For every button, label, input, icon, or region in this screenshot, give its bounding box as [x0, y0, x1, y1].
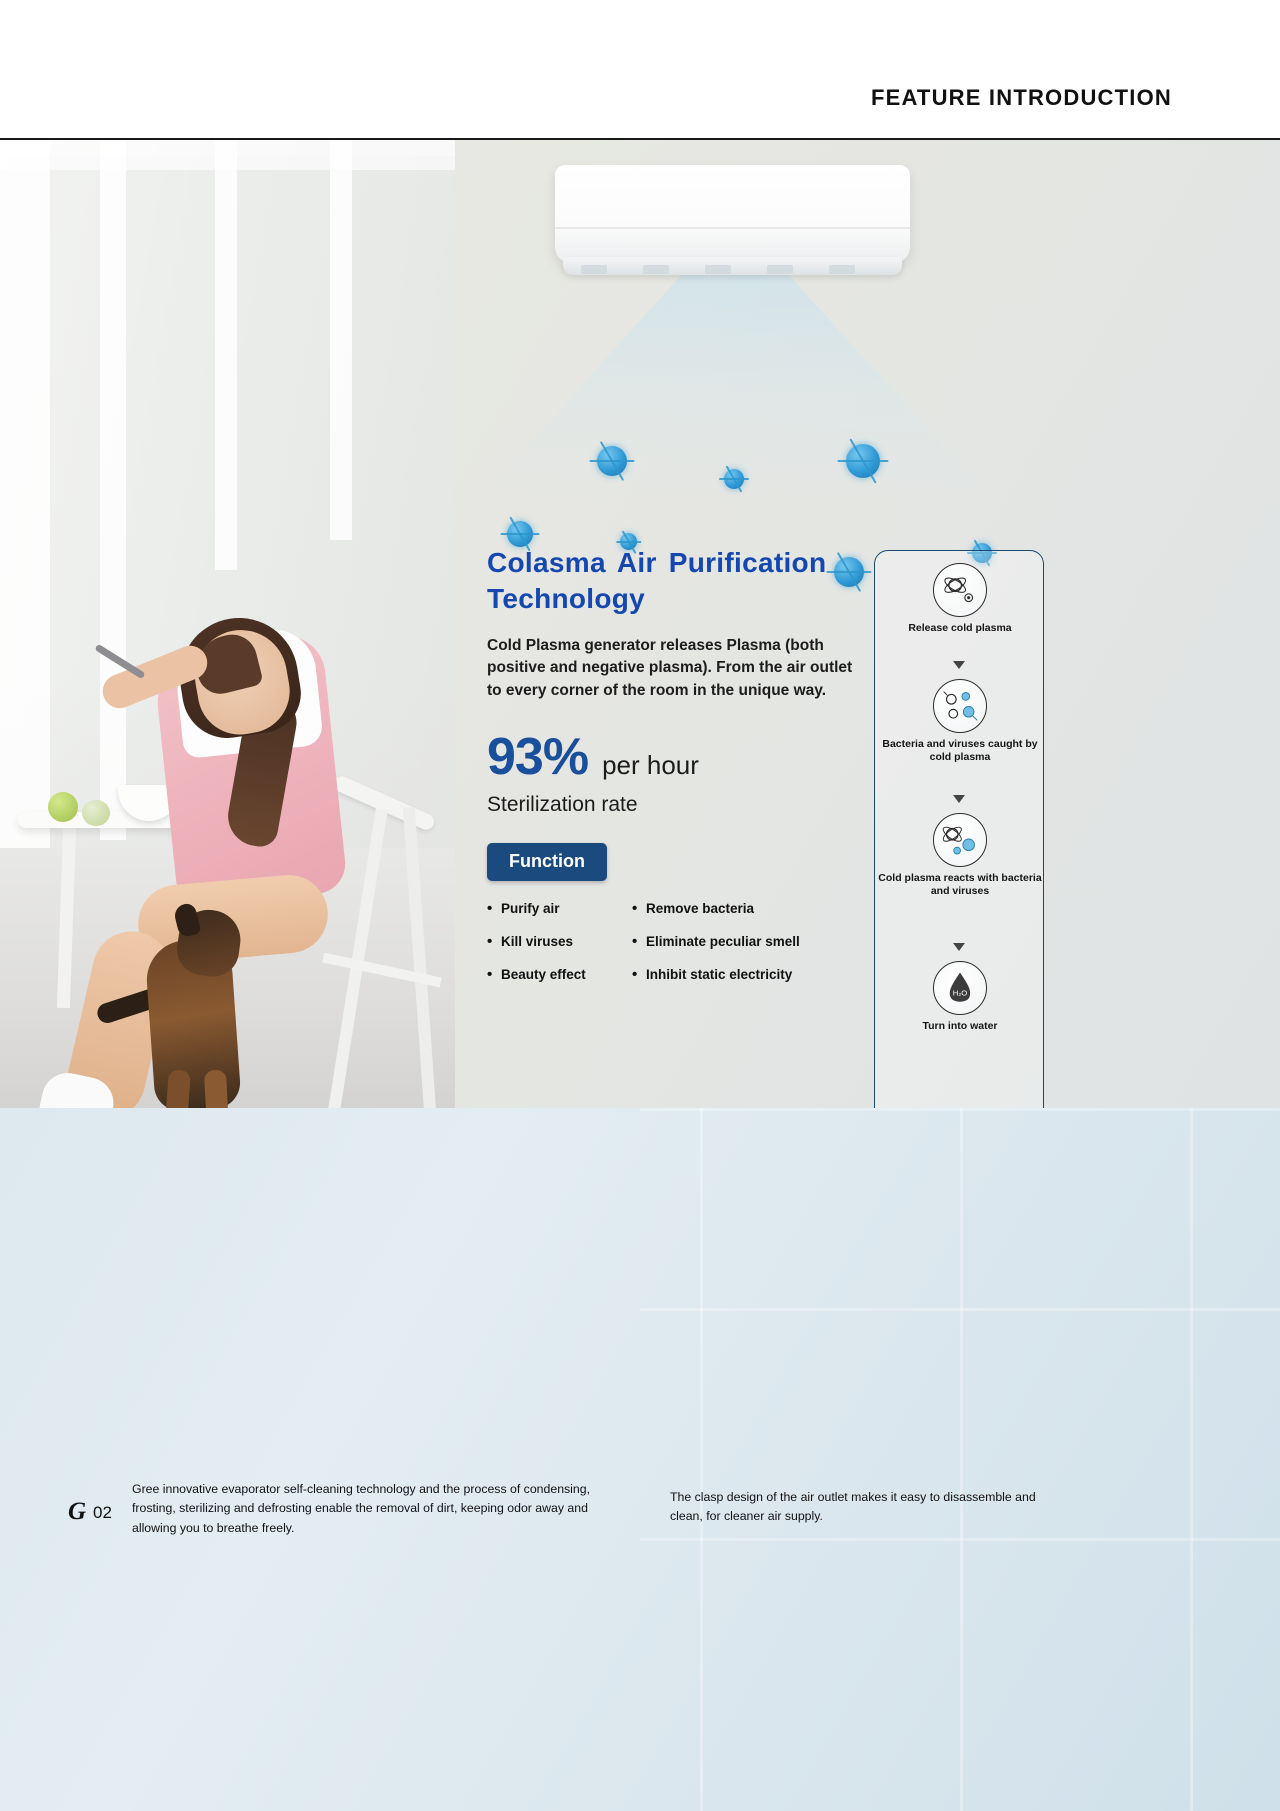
bullet-icon: •: [632, 901, 646, 916]
function-list: • Purify air • Remove bacteria • Kill vi…: [487, 901, 867, 982]
svg-text:H₂O: H₂O: [953, 989, 968, 998]
ac-seam: [555, 227, 910, 229]
function-item-label: Beauty effect: [501, 967, 586, 982]
function-item: • Eliminate peculiar smell: [632, 934, 867, 949]
function-item-label: Kill viruses: [501, 934, 573, 949]
rate-value: 93%: [487, 727, 588, 787]
bacteria-glyph: [934, 680, 986, 732]
bullet-icon: •: [487, 901, 501, 916]
easy-cleaning-paragraph: The clasp design of the air outlet makes…: [670, 1488, 1070, 1527]
plasma-reaction-icon: [933, 813, 987, 867]
window-mullion: [100, 140, 126, 840]
function-item-label: Remove bacteria: [646, 901, 754, 916]
function-item-label: Eliminate peculiar smell: [646, 934, 800, 949]
self-cleaning-paragraph: Gree innovative evaporator self-cleaning…: [132, 1480, 602, 1538]
ac-unit-body: [555, 165, 910, 263]
bullet-icon: •: [632, 967, 646, 982]
chair-leg: [403, 807, 437, 1108]
process-step-label: Cold plasma reacts with bacteria and vir…: [875, 872, 1045, 899]
wall-line: [1190, 1108, 1193, 1811]
bullet-icon: •: [487, 934, 501, 949]
cold-plasma-release-icon: [933, 563, 987, 617]
rate-unit: per hour: [602, 750, 699, 781]
hero-section: Colasma Air Purification Technology Cold…: [0, 140, 1280, 1108]
function-item: • Remove bacteria: [632, 901, 867, 916]
process-step: H₂O Turn into water: [875, 961, 1045, 1033]
wall-line: [640, 1308, 1280, 1311]
virus-particle-icon: [724, 469, 744, 489]
hero-text-block: Colasma Air Purification Technology Cold…: [487, 545, 867, 982]
function-item: • Inhibit static electricity: [632, 967, 867, 982]
bottom-section: Self-Cleaning Efficient self-cleaning in…: [0, 1108, 1280, 1811]
bullet-icon: •: [487, 967, 501, 982]
function-badge: Function: [487, 843, 607, 881]
process-step-label: Bacteria and viruses caught by cold plas…: [875, 738, 1045, 765]
virus-particle-icon: [507, 521, 533, 547]
plasma-glyph: [934, 564, 986, 616]
lifestyle-photo: [0, 140, 455, 1108]
function-item: • Beauty effect: [487, 967, 632, 982]
brand-logo: G: [68, 1498, 86, 1526]
wall-line: [640, 1538, 1280, 1541]
virus-particle-icon: [597, 446, 627, 476]
chevron-down-icon: [953, 943, 965, 951]
chevron-down-icon: [953, 661, 965, 669]
process-step: Bacteria and viruses caught by cold plas…: [875, 679, 1045, 765]
process-step-label: Release cold plasma: [875, 622, 1045, 635]
ac-louver: [705, 265, 731, 274]
air-conditioner-illustration: [555, 165, 915, 465]
sterilization-rate-row: 93% per hour: [487, 727, 867, 787]
function-item: • Purify air: [487, 901, 632, 916]
apple: [82, 800, 110, 826]
function-item: • Kill viruses: [487, 934, 632, 949]
ac-louver: [643, 265, 669, 274]
rate-caption: Sterilization rate: [487, 793, 867, 817]
ac-louver: [767, 265, 793, 274]
process-step-label: Turn into water: [875, 1020, 1045, 1033]
apple: [48, 792, 78, 822]
droplet-glyph: H₂O: [934, 962, 986, 1014]
hero-description: Cold Plasma generator releases Plasma (b…: [487, 635, 867, 703]
process-step: Release cold plasma: [875, 563, 1045, 635]
water-droplet-icon: H₂O: [933, 961, 987, 1015]
wall-line: [960, 1108, 963, 1811]
window-mullion: [215, 140, 237, 570]
process-step: Cold plasma reacts with bacteria and vir…: [875, 813, 1045, 899]
window-mullion: [330, 140, 352, 540]
chevron-down-icon: [953, 795, 965, 803]
bacteria-capture-icon: [933, 679, 987, 733]
function-item-label: Purify air: [501, 901, 560, 916]
ac-louver: [581, 265, 607, 274]
page-number: 02: [93, 1503, 112, 1523]
reaction-glyph: [934, 814, 986, 866]
hero-heading: Colasma Air Purification Technology: [487, 545, 867, 617]
page-title: FEATURE INTRODUCTION: [871, 85, 1172, 111]
wall-line: [700, 1108, 703, 1811]
ac-louver: [829, 265, 855, 274]
plasma-process-panel: Release cold plasma Bacteria and viruses…: [874, 550, 1044, 1108]
virus-particle-icon: [846, 444, 880, 478]
function-item-label: Inhibit static electricity: [646, 967, 792, 982]
bullet-icon: •: [632, 934, 646, 949]
page-header: FEATURE INTRODUCTION: [0, 0, 1280, 140]
window-mullion: [0, 140, 50, 900]
